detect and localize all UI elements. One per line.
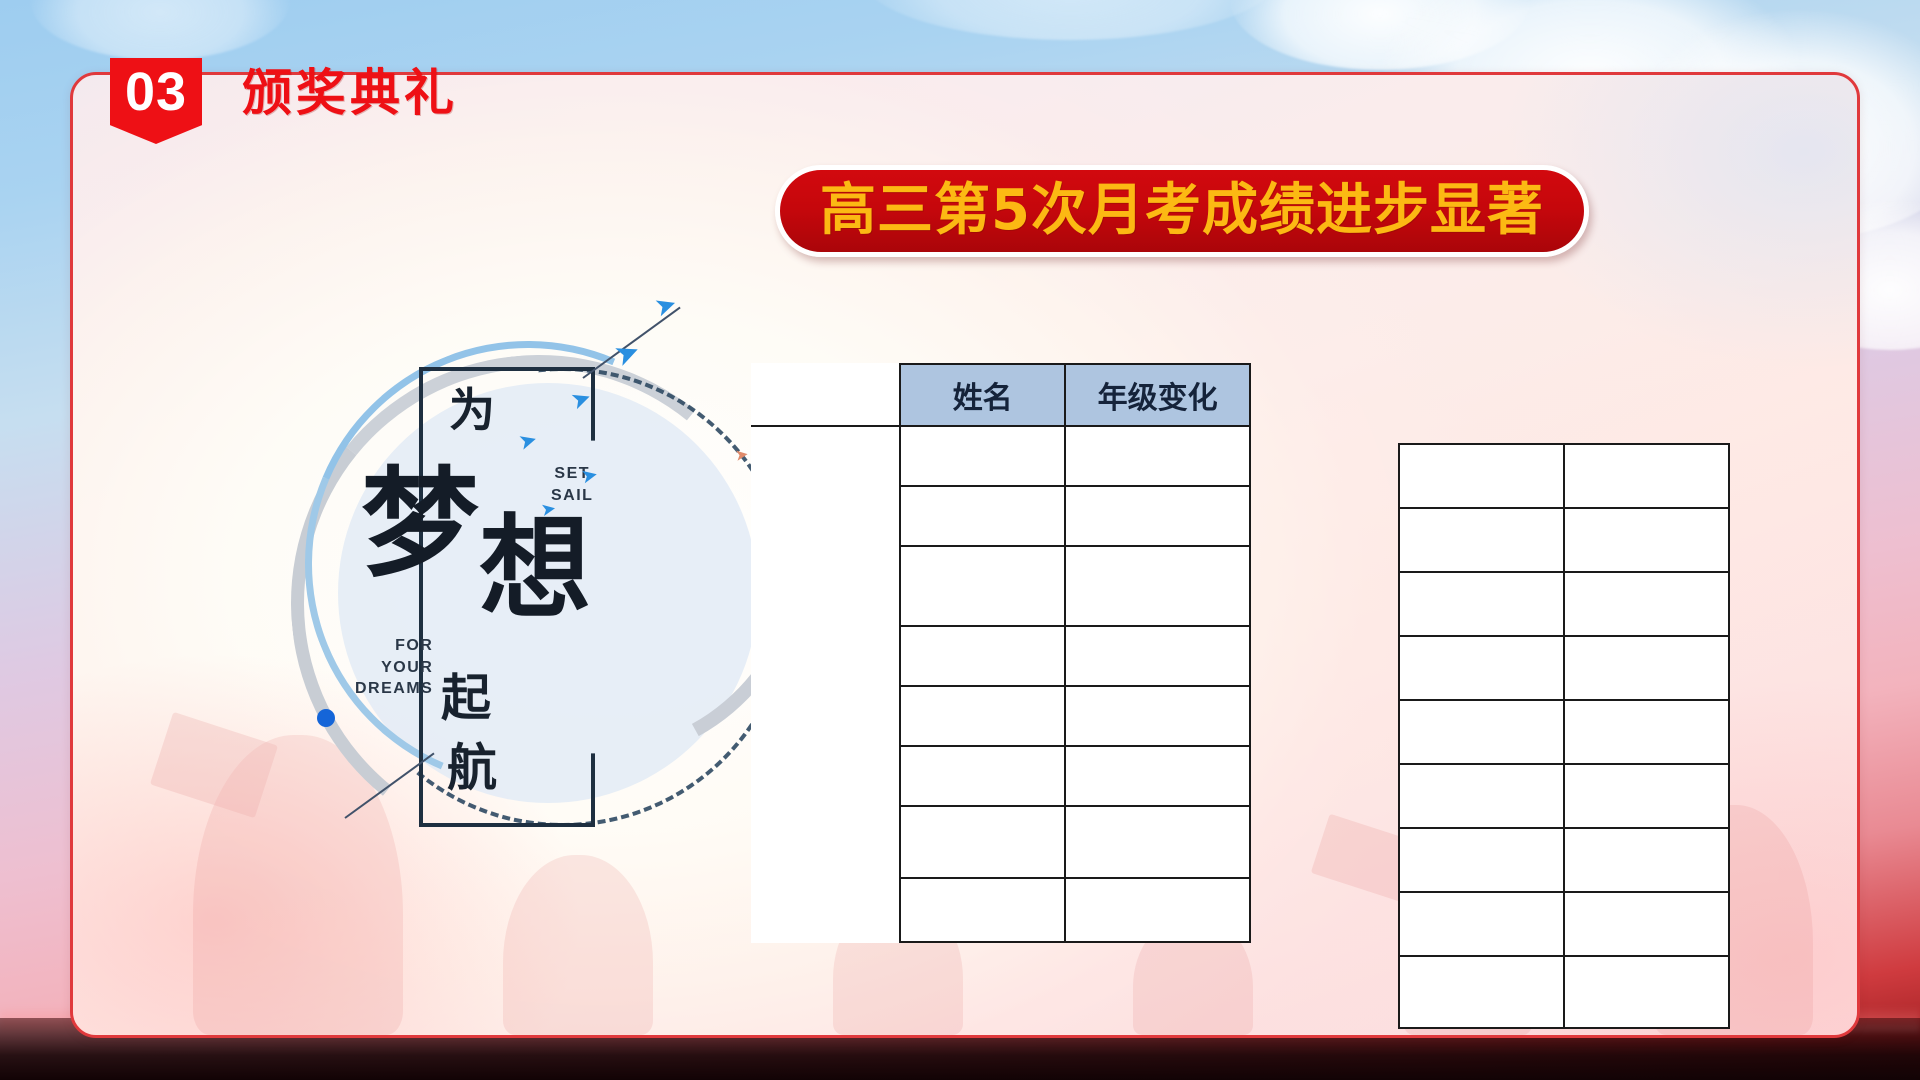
cell-grade-change[interactable] — [1065, 426, 1250, 486]
section-header: 03 颁奖典礼 — [110, 58, 458, 144]
table-row[interactable] — [751, 686, 1250, 746]
table-head: 姓名年级变化 — [751, 364, 1250, 426]
table-row[interactable] — [1399, 572, 1729, 636]
cell-name[interactable] — [1399, 572, 1564, 636]
table-row[interactable] — [751, 806, 1250, 878]
cell-name[interactable] — [900, 686, 1065, 746]
table-row[interactable] — [751, 486, 1250, 546]
cell-name[interactable] — [1399, 444, 1564, 508]
cell-grade-change[interactable] — [1564, 892, 1729, 956]
dream-text-wei: 为 — [449, 387, 495, 433]
cell-name[interactable] — [900, 546, 1065, 626]
table-row-spacer — [751, 686, 900, 746]
table-row[interactable] — [751, 626, 1250, 686]
cloud-shape — [860, 0, 1280, 40]
cell-grade-change[interactable] — [1065, 546, 1250, 626]
cell-grade-change[interactable] — [1065, 486, 1250, 546]
section-number-badge: 03 — [110, 58, 202, 144]
page-title: 颁奖典礼 — [242, 68, 458, 118]
cell-grade-change[interactable] — [1564, 764, 1729, 828]
table-row-spacer — [751, 746, 900, 806]
cell-name[interactable] — [1399, 508, 1564, 572]
dream-accent-dot — [317, 709, 335, 727]
dream-text-for: FOR — [355, 635, 433, 657]
table-row[interactable] — [1399, 508, 1729, 572]
table-row[interactable] — [1399, 444, 1729, 508]
table-header-blank — [751, 364, 900, 426]
cell-name[interactable] — [1399, 828, 1564, 892]
cell-grade-change[interactable] — [1564, 508, 1729, 572]
achievement-banner-label: 高三第5次月考成绩进步显著 — [820, 183, 1544, 239]
table-body — [1399, 444, 1729, 1028]
cell-grade-change[interactable] — [1065, 806, 1250, 878]
table-row-spacer — [751, 806, 900, 878]
table-header-name: 姓名 — [900, 364, 1065, 426]
table-row-spacer — [751, 486, 900, 546]
graduation-cap-icon — [150, 712, 278, 818]
table-row[interactable] — [751, 878, 1250, 942]
cell-grade-change[interactable] — [1564, 636, 1729, 700]
cell-name[interactable] — [1399, 636, 1564, 700]
cell-name[interactable] — [900, 806, 1065, 878]
table-body — [751, 426, 1250, 942]
table-row-spacer — [751, 878, 900, 942]
cell-name[interactable] — [1399, 956, 1564, 1028]
grade-change-table-right[interactable] — [1398, 443, 1730, 1029]
table-header-grade-change: 年级变化 — [1065, 364, 1250, 426]
dream-text-xiang: 想 — [479, 513, 591, 625]
cell-name[interactable] — [1399, 764, 1564, 828]
table-row-spacer — [751, 626, 900, 686]
cell-grade-change[interactable] — [1564, 700, 1729, 764]
cell-grade-change[interactable] — [1065, 878, 1250, 942]
bird-icon: ➤ — [734, 446, 750, 464]
bird-icon: ➤ — [540, 500, 558, 520]
table-row[interactable] — [1399, 956, 1729, 1028]
dream-text-for-your-dreams: FOR YOUR DREAMS — [355, 635, 433, 700]
grade-change-table-left[interactable]: 姓名年级变化 — [751, 363, 1251, 943]
cell-grade-change[interactable] — [1564, 444, 1729, 508]
cell-name[interactable] — [900, 626, 1065, 686]
cell-grade-change[interactable] — [1065, 626, 1250, 686]
cloud-shape — [30, 0, 290, 60]
cell-name[interactable] — [900, 746, 1065, 806]
table-header-row: 姓名年级变化 — [751, 364, 1250, 426]
cell-name[interactable] — [900, 878, 1065, 942]
table-row[interactable] — [1399, 892, 1729, 956]
table-row[interactable] — [1399, 636, 1729, 700]
table-row[interactable] — [1399, 828, 1729, 892]
dream-text-meng: 梦 — [361, 465, 479, 583]
bird-icon: ➤ — [652, 290, 681, 321]
achievement-banner: 高三第5次月考成绩进步显著 — [775, 165, 1589, 257]
dream-text-qi: 起 — [441, 673, 491, 723]
table-row[interactable] — [751, 426, 1250, 486]
cell-name[interactable] — [900, 486, 1065, 546]
table-row-spacer — [751, 546, 900, 626]
cell-name[interactable] — [900, 426, 1065, 486]
slide-canvas: 为 梦 想 起 航 SET SAIL FOR YOUR DREAMS ➤ ➤ ➤… — [0, 0, 1920, 1080]
cell-grade-change[interactable] — [1564, 956, 1729, 1028]
cell-grade-change[interactable] — [1564, 572, 1729, 636]
dream-text-dreams: DREAMS — [355, 678, 433, 700]
table-row[interactable] — [751, 546, 1250, 626]
table-row[interactable] — [751, 746, 1250, 806]
cell-name[interactable] — [1399, 700, 1564, 764]
dream-text-your: YOUR — [355, 657, 433, 679]
table-row[interactable] — [1399, 700, 1729, 764]
section-number-label: 03 — [125, 65, 187, 119]
table-row[interactable] — [1399, 764, 1729, 828]
cell-name[interactable] — [1399, 892, 1564, 956]
cell-grade-change[interactable] — [1564, 828, 1729, 892]
cell-grade-change[interactable] — [1065, 746, 1250, 806]
table-row-spacer — [751, 426, 900, 486]
cell-grade-change[interactable] — [1065, 686, 1250, 746]
dream-text-hang: 航 — [447, 743, 497, 793]
dream-text-sail: SAIL — [551, 485, 593, 507]
